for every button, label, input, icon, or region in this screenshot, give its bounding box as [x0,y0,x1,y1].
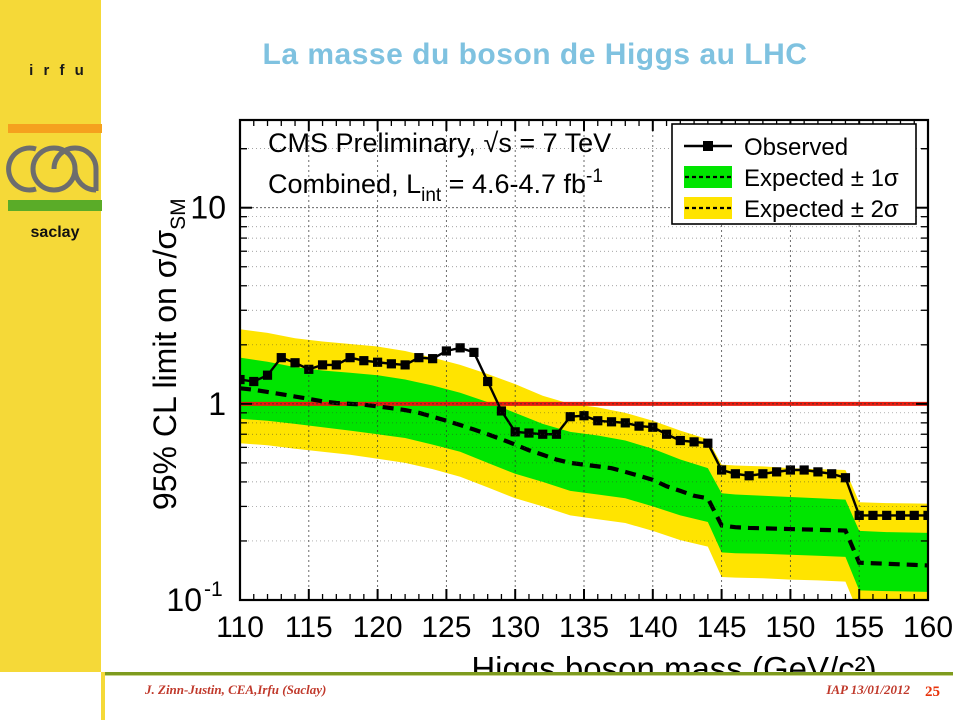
x-tick-label: 120 [353,611,403,644]
observed-marker [249,377,258,386]
observed-marker [634,422,643,431]
footer-event: IAP 13/01/2012 [760,682,910,698]
chart-container: 11011512012513013514014515015516010110-1… [0,0,960,672]
footer-rule-secondary [105,675,953,676]
y-axis-label-subscript: SM [167,198,190,230]
observed-marker [497,406,506,415]
observed-marker [566,412,575,421]
observed-marker [318,360,327,369]
x-tick-label: 115 [285,611,333,644]
observed-marker [401,360,410,369]
observed-marker [607,417,616,426]
x-tick-label: 135 [559,611,609,644]
chart-header-line1: CMS Preliminary, √s = 7 TeV [268,128,611,158]
footer-left-blank [0,672,101,720]
x-tick-label: 150 [765,611,815,644]
observed-marker [414,353,423,362]
observed-marker [359,356,368,365]
observed-marker [910,511,919,520]
observed-marker [483,377,492,386]
x-tick-label: 145 [697,611,747,644]
legend-label: Observed [744,134,848,161]
observed-marker [538,430,547,439]
legend-marker-observed [703,141,713,151]
observed-marker [524,428,533,437]
y-axis-label: 95% CL limit on σ/σ [147,230,183,510]
legend-label: Expected ± 1σ [744,165,899,192]
y-tick-label-exponent: -1 [204,578,223,601]
observed-marker [813,467,822,476]
observed-marker [882,511,891,520]
observed-marker [731,469,740,478]
x-tick-label: 110 [216,611,264,644]
y-tick-label-10: 10 [190,190,226,226]
observed-marker [827,469,836,478]
x-tick-label: 125 [421,611,471,644]
x-tick-label: 130 [490,611,540,644]
observed-marker [593,416,602,425]
observed-marker [689,437,698,446]
y-axis-label-group: 95% CL limit on σ/σSM [147,198,190,510]
observed-marker [745,471,754,480]
observed-marker [772,467,781,476]
observed-marker [703,439,712,448]
observed-marker [387,359,396,368]
x-tick-label: 160 [903,611,953,644]
x-axis-label: Higgs boson mass (GeV/c²) [471,650,876,672]
observed-marker [800,465,809,474]
x-tick-label: 140 [628,611,678,644]
page-number: 25 [925,684,940,701]
observed-marker [676,436,685,445]
x-tick-label: 155 [834,611,884,644]
observed-marker [428,354,437,363]
observed-marker [896,511,905,520]
observed-marker [332,360,341,369]
observed-marker [263,371,272,380]
legend-label: Expected ± 2σ [744,196,899,223]
observed-marker [277,353,286,362]
footer-sidebar-strip [101,672,105,720]
y-tick-label-1: 1 [208,386,226,422]
higgs-limit-chart: 11011512012513013514014515015516010110-1… [0,0,960,672]
observed-marker [662,430,671,439]
observed-marker [290,358,299,367]
y-tick-label-0p1: 10 [166,582,202,618]
observed-marker [345,353,354,362]
observed-marker [758,469,767,478]
observed-marker [868,511,877,520]
observed-marker [469,348,478,357]
footer-author: J. Zinn-Justin, CEA,Irfu (Saclay) [145,682,326,698]
observed-marker [841,473,850,482]
